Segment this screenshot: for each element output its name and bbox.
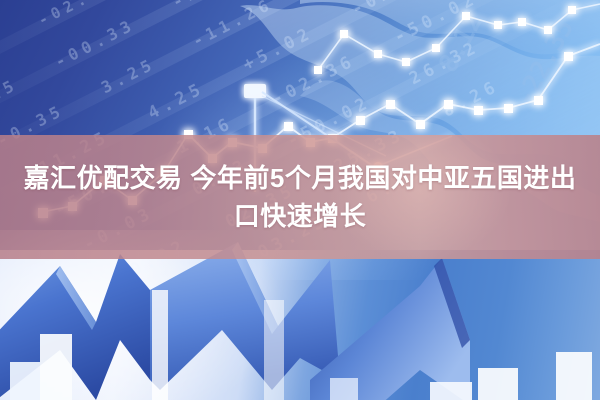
line-chart-upper-path	[318, 4, 600, 70]
white-bar-chart	[0, 300, 600, 400]
headline-text-block: 嘉汇优配交易 今年前5个月我国对中亚五国进出 口快速增长	[0, 135, 600, 259]
news-banner-image: -00.36 -02.35 21.36 45.02 3.25 -00.33 -1…	[0, 0, 600, 400]
headline-line-1: 嘉汇优配交易 今年前5个月我国对中亚五国进出	[24, 160, 577, 196]
bar	[10, 334, 592, 400]
headline-line-2: 口快速增长	[234, 198, 367, 234]
